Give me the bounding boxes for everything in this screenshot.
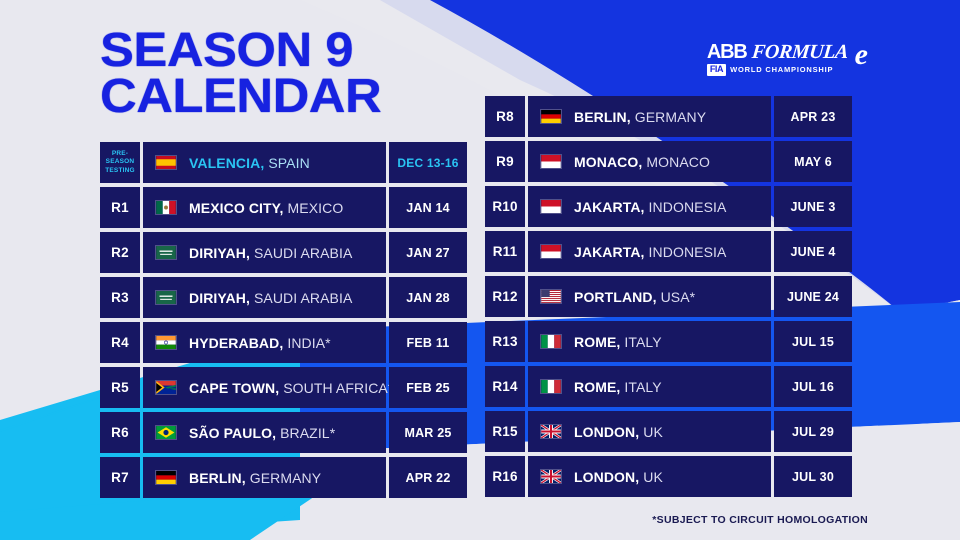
- country-label: SAUDI ARABIA: [254, 290, 352, 306]
- venue-cell: CAPE TOWN, SOUTH AFRICA*: [143, 367, 386, 408]
- italy-flag: [540, 379, 562, 394]
- table-row[interactable]: R3DIRIYAH, SAUDI ARABIAJAN 28: [100, 277, 467, 318]
- saudi-arabia-flag: [155, 290, 177, 305]
- country-label: ITALY: [624, 379, 661, 395]
- venue-cell: MEXICO CITY, MEXICO: [143, 187, 386, 228]
- date-label: DEC 13-16: [397, 156, 458, 170]
- country-label: MONACO: [646, 154, 710, 170]
- date-cell: MAY 6: [774, 141, 852, 182]
- round-label: R10: [492, 199, 517, 214]
- city-label: CAPE TOWN,: [189, 380, 279, 396]
- venue-cell: LONDON, UK: [528, 411, 771, 452]
- indonesia-flag: [540, 244, 562, 259]
- city-label: HYDERABAD,: [189, 335, 283, 351]
- table-row[interactable]: R7BERLIN, GERMANYAPR 22: [100, 457, 467, 498]
- table-row[interactable]: R4HYDERABAD, INDIA*FEB 11: [100, 322, 467, 363]
- city-label: SÃO PAULO,: [189, 425, 276, 441]
- venue-cell: HYDERABAD, INDIA*: [143, 322, 386, 363]
- round-label: R12: [492, 289, 517, 304]
- world-championship-label: WORLD CHAMPIONSHIP: [730, 65, 833, 74]
- brazil-flag: [155, 425, 177, 440]
- city-label: PORTLAND,: [574, 289, 657, 305]
- round-cell: R11: [485, 231, 525, 272]
- round-label: R1: [111, 200, 129, 215]
- round-label: R15: [492, 424, 517, 439]
- date-label: JAN 27: [406, 246, 450, 260]
- round-cell: R1: [100, 187, 140, 228]
- country-label: INDONESIA: [649, 244, 727, 260]
- table-row[interactable]: R5CAPE TOWN, SOUTH AFRICA*FEB 25: [100, 367, 467, 408]
- venue-text: MEXICO CITY, MEXICO: [189, 200, 343, 216]
- date-cell: JUL 29: [774, 411, 852, 452]
- venue-text: ROME, ITALY: [574, 334, 662, 350]
- venue-cell: BERLIN, GERMANY: [143, 457, 386, 498]
- date-label: APR 22: [406, 471, 451, 485]
- round-cell: R16: [485, 456, 525, 497]
- date-label: APR 23: [791, 110, 836, 124]
- date-label: JUNE 3: [791, 200, 836, 214]
- date-cell: APR 23: [774, 96, 852, 137]
- usa-flag: [540, 289, 562, 304]
- table-row[interactable]: R6SÃO PAULO, BRAZIL*MAR 25: [100, 412, 467, 453]
- country-label: ITALY: [624, 334, 661, 350]
- round-label: R2: [111, 245, 129, 260]
- round-label: R13: [492, 334, 517, 349]
- date-label: JUL 29: [792, 425, 834, 439]
- round-cell: R2: [100, 232, 140, 273]
- date-label: JUNE 24: [787, 290, 839, 304]
- date-cell: APR 22: [389, 457, 467, 498]
- venue-cell: SÃO PAULO, BRAZIL*: [143, 412, 386, 453]
- venue-cell: DIRIYAH, SAUDI ARABIA: [143, 232, 386, 273]
- round-label: R11: [493, 244, 518, 259]
- venue-text: HYDERABAD, INDIA*: [189, 335, 331, 351]
- country-label: UK: [643, 424, 663, 440]
- date-label: MAY 6: [794, 155, 832, 169]
- indonesia-flag: [540, 199, 562, 214]
- date-cell: FEB 11: [389, 322, 467, 363]
- country-label: UK: [643, 469, 663, 485]
- country-label: GERMANY: [250, 470, 322, 486]
- venue-cell: VALENCIA, SPAIN: [143, 142, 386, 183]
- venue-text: DIRIYAH, SAUDI ARABIA: [189, 290, 352, 306]
- venue-text: CAPE TOWN, SOUTH AFRICA*: [189, 380, 393, 396]
- city-label: VALENCIA,: [189, 155, 264, 171]
- date-cell: JUNE 24: [774, 276, 852, 317]
- city-label: JAKARTA,: [574, 244, 645, 260]
- venue-cell: ROME, ITALY: [528, 321, 771, 362]
- date-cell: JAN 28: [389, 277, 467, 318]
- germany-flag: [540, 109, 562, 124]
- country-label: INDIA*: [287, 335, 330, 351]
- round-cell: PRE-SEASONTESTING: [100, 142, 140, 183]
- table-row[interactable]: R9MONACO, MONACOMAY 6: [485, 141, 852, 182]
- city-label: LONDON,: [574, 424, 639, 440]
- venue-text: DIRIYAH, SAUDI ARABIA: [189, 245, 352, 261]
- round-cell: R15: [485, 411, 525, 452]
- date-cell: JUNE 3: [774, 186, 852, 227]
- round-label: R9: [496, 154, 514, 169]
- table-row[interactable]: R16LONDON, UKJUL 30: [485, 456, 852, 497]
- round-label: R5: [111, 380, 129, 395]
- round-cell: R4: [100, 322, 140, 363]
- venue-cell: MONACO, MONACO: [528, 141, 771, 182]
- round-label: R3: [111, 290, 129, 305]
- date-cell: JUNE 4: [774, 231, 852, 272]
- city-label: BERLIN,: [189, 470, 246, 486]
- table-row[interactable]: PRE-SEASONTESTINGVALENCIA, SPAINDEC 13-1…: [100, 142, 467, 183]
- round-label: R6: [111, 425, 129, 440]
- table-row[interactable]: R10JAKARTA, INDONESIAJUNE 3: [485, 186, 852, 227]
- venue-cell: BERLIN, GERMANY: [528, 96, 771, 137]
- city-label: DIRIYAH,: [189, 245, 250, 261]
- city-label: ROME,: [574, 334, 620, 350]
- venue-text: LONDON, UK: [574, 424, 663, 440]
- venue-text: JAKARTA, INDONESIA: [574, 244, 726, 260]
- round-cell: R6: [100, 412, 140, 453]
- date-label: JUL 16: [792, 380, 834, 394]
- title-line-2: CALENDAR: [100, 74, 381, 120]
- date-cell: JUL 30: [774, 456, 852, 497]
- italy-flag: [540, 334, 562, 349]
- country-label: SPAIN: [268, 155, 309, 171]
- country-label: SOUTH AFRICA*: [283, 380, 393, 396]
- date-label: JAN 14: [406, 201, 450, 215]
- date-label: JUNE 4: [791, 245, 836, 259]
- date-label: FEB 25: [406, 381, 450, 395]
- round-label-line: TESTING: [105, 167, 135, 175]
- spain-flag: [155, 155, 177, 170]
- country-label: USA*: [661, 289, 696, 305]
- venue-cell: LONDON, UK: [528, 456, 771, 497]
- city-label: MONACO,: [574, 154, 642, 170]
- table-row[interactable]: R8BERLIN, GERMANYAPR 23: [485, 96, 852, 137]
- venue-text: VALENCIA, SPAIN: [189, 155, 310, 171]
- page-title: SEASON 9 CALENDAR: [100, 28, 381, 119]
- table-row[interactable]: R12PORTLAND, USA*JUNE 24: [485, 276, 852, 317]
- date-cell: DEC 13-16: [389, 142, 467, 183]
- table-row[interactable]: R15LONDON, UKJUL 29: [485, 411, 852, 452]
- venue-text: BERLIN, GERMANY: [189, 470, 321, 486]
- date-cell: JAN 14: [389, 187, 467, 228]
- table-row[interactable]: R14ROME, ITALYJUL 16: [485, 366, 852, 407]
- venue-text: LONDON, UK: [574, 469, 663, 485]
- calendar-table-left: PRE-SEASONTESTINGVALENCIA, SPAINDEC 13-1…: [100, 142, 467, 502]
- city-label: ROME,: [574, 379, 620, 395]
- monaco-flag: [540, 154, 562, 169]
- venue-text: MONACO, MONACO: [574, 154, 710, 170]
- venue-text: ROME, ITALY: [574, 379, 662, 395]
- title-line-1: SEASON 9: [100, 28, 381, 74]
- city-label: JAKARTA,: [574, 199, 645, 215]
- round-label: R7: [111, 470, 129, 485]
- footnote: *SUBJECT TO CIRCUIT HOMOLOGATION: [652, 514, 868, 526]
- venue-text: BERLIN, GERMANY: [574, 109, 706, 125]
- uk-flag: [540, 424, 562, 439]
- south-africa-flag: [155, 380, 177, 395]
- venue-cell: PORTLAND, USA*: [528, 276, 771, 317]
- date-label: FEB 11: [407, 336, 450, 350]
- round-label-line: SEASON: [106, 158, 135, 166]
- city-label: DIRIYAH,: [189, 290, 250, 306]
- logo-top-row: ABB FORMULA e: [707, 42, 868, 62]
- formula-e-logo: ABB FORMULA e FIA WORLD CHAMPIONSHIP: [707, 42, 868, 76]
- abb-wordmark: ABB: [707, 42, 747, 62]
- city-label: BERLIN,: [574, 109, 631, 125]
- venue-cell: DIRIYAH, SAUDI ARABIA: [143, 277, 386, 318]
- city-label: LONDON,: [574, 469, 639, 485]
- round-cell: R5: [100, 367, 140, 408]
- venue-text: SÃO PAULO, BRAZIL*: [189, 425, 335, 441]
- table-row[interactable]: R13ROME, ITALYJUL 15: [485, 321, 852, 362]
- date-cell: JAN 27: [389, 232, 467, 273]
- round-label: R8: [496, 109, 514, 124]
- date-label: MAR 25: [404, 426, 451, 440]
- round-label: R16: [492, 469, 517, 484]
- germany-flag: [155, 470, 177, 485]
- date-cell: MAR 25: [389, 412, 467, 453]
- table-row[interactable]: R11JAKARTA, INDONESIAJUNE 4: [485, 231, 852, 272]
- table-row[interactable]: R2DIRIYAH, SAUDI ARABIAJAN 27: [100, 232, 467, 273]
- table-row[interactable]: R1MEXICO CITY, MEXICOJAN 14: [100, 187, 467, 228]
- round-cell: R8: [485, 96, 525, 137]
- round-cell: R13: [485, 321, 525, 362]
- date-cell: JUL 15: [774, 321, 852, 362]
- round-cell: R7: [100, 457, 140, 498]
- venue-cell: JAKARTA, INDONESIA: [528, 186, 771, 227]
- e-mark-icon: e: [855, 44, 868, 67]
- country-label: MEXICO: [288, 200, 344, 216]
- india-flag: [155, 335, 177, 350]
- venue-text: JAKARTA, INDONESIA: [574, 199, 726, 215]
- logo-bottom-row: FIA WORLD CHAMPIONSHIP: [707, 64, 868, 76]
- fia-badge: FIA: [707, 64, 726, 76]
- round-cell: R14: [485, 366, 525, 407]
- date-cell: JUL 16: [774, 366, 852, 407]
- round-cell: R9: [485, 141, 525, 182]
- calendar-table-right: R8BERLIN, GERMANYAPR 23R9MONACO, MONACOM…: [485, 96, 852, 501]
- venue-cell: ROME, ITALY: [528, 366, 771, 407]
- city-label: MEXICO CITY,: [189, 200, 284, 216]
- date-label: JUL 30: [792, 470, 834, 484]
- uk-flag: [540, 469, 562, 484]
- saudi-arabia-flag: [155, 245, 177, 260]
- country-label: INDONESIA: [649, 199, 727, 215]
- round-cell: R10: [485, 186, 525, 227]
- date-label: JUL 15: [792, 335, 834, 349]
- venue-cell: JAKARTA, INDONESIA: [528, 231, 771, 272]
- round-cell: R12: [485, 276, 525, 317]
- round-label: R4: [111, 335, 129, 350]
- round-label: R14: [492, 379, 517, 394]
- venue-text: PORTLAND, USA*: [574, 289, 695, 305]
- country-label: GERMANY: [635, 109, 707, 125]
- country-label: SAUDI ARABIA: [254, 245, 352, 261]
- round-cell: R3: [100, 277, 140, 318]
- date-cell: FEB 25: [389, 367, 467, 408]
- country-label: BRAZIL*: [280, 425, 335, 441]
- formula-wordmark: FORMULA: [751, 42, 849, 62]
- round-label-line: PRE-: [112, 150, 128, 158]
- date-label: JAN 28: [406, 291, 450, 305]
- mexico-flag: [155, 200, 177, 215]
